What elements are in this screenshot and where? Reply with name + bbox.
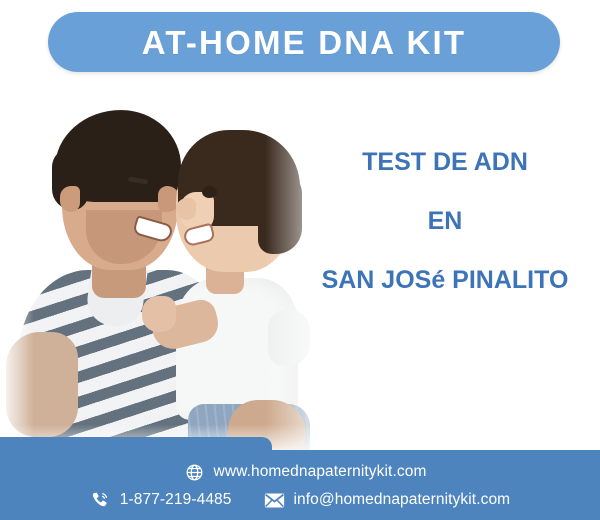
email-label: info@homednapaternitykit.com: [294, 491, 511, 509]
father-forearm: [6, 332, 78, 437]
globe-icon: [184, 462, 205, 483]
contact-phone[interactable]: 1-877-219-4485: [90, 490, 232, 511]
phone-icon: [90, 490, 111, 511]
headline-line-3: SAN JOSé PINALITO: [300, 268, 590, 293]
child-hair-side: [258, 168, 302, 254]
headline-line-1: TEST DE ADN: [300, 150, 590, 175]
family-photo: [0, 82, 340, 454]
headline-line-2: EN: [300, 209, 590, 234]
envelope-icon: [264, 490, 285, 511]
father-ear: [60, 186, 80, 212]
poster-canvas: AT-HOME DNA KIT: [0, 0, 600, 520]
footer-row-phone-email: 1-877-219-4485 info@homednapaternitykit.…: [0, 490, 600, 511]
child-sleeve: [268, 310, 310, 366]
contact-website[interactable]: www.homednapaternitykit.com: [184, 462, 427, 483]
footer-contact-group: www.homednapaternitykit.com 1-877-219-44…: [0, 450, 600, 520]
contact-email[interactable]: info@homednapaternitykit.com: [264, 490, 511, 511]
headline-block: TEST DE ADN EN SAN JOSé PINALITO: [300, 150, 590, 293]
child-nose: [176, 198, 196, 220]
child-hand: [142, 296, 176, 332]
child-eye: [202, 186, 217, 198]
website-label: www.homednapaternitykit.com: [214, 463, 427, 481]
phone-label: 1-877-219-4485: [120, 491, 232, 509]
header-banner: AT-HOME DNA KIT: [48, 12, 560, 72]
page-title: AT-HOME DNA KIT: [142, 26, 466, 59]
family-photo-image: [0, 82, 340, 454]
footer-row-website: www.homednapaternitykit.com: [0, 462, 600, 483]
